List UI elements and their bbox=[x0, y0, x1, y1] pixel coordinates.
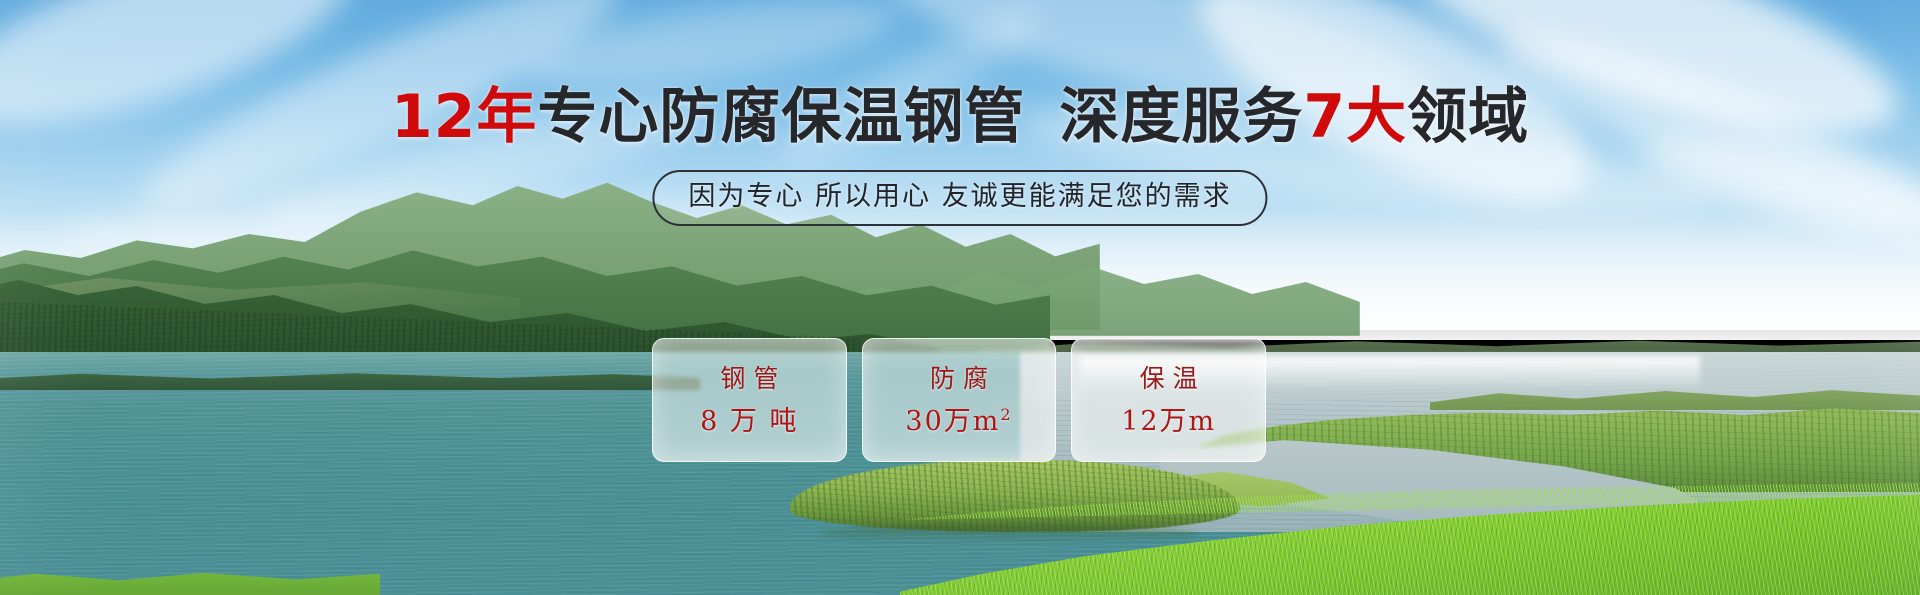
headline-seven: 7大 bbox=[1303, 82, 1407, 152]
stat-card-title: 防腐 bbox=[922, 364, 996, 394]
hero-banner: 12年专心防腐保温钢管深度服务7大领域 因为专心 所以用心 友诚更能满足您的需求… bbox=[0, 0, 1920, 595]
stat-card-value: 30万m2 bbox=[905, 407, 1012, 437]
stat-card-title: 保温 bbox=[1132, 364, 1206, 394]
stat-card-title: 钢管 bbox=[712, 364, 786, 394]
subtitle-pill: 因为专心 所以用心 友诚更能满足您的需求 bbox=[652, 170, 1267, 226]
headline-years: 12年 bbox=[391, 82, 538, 152]
stat-card-steel-pipe[interactable]: 钢管 8 万 吨 bbox=[652, 338, 847, 462]
stat-card-insulation[interactable]: 保温 12万m bbox=[1071, 338, 1266, 462]
stat-card-anticorrosion[interactable]: 防腐 30万m2 bbox=[862, 338, 1057, 462]
stat-card-value: 12万m bbox=[1121, 407, 1216, 437]
stat-card-value-text: 30万m bbox=[905, 406, 1000, 437]
stat-card-value-text: 8 万 吨 bbox=[700, 406, 798, 437]
headline-main: 专心防腐保温钢管 bbox=[537, 82, 1025, 152]
headline-fields: 领域 bbox=[1407, 82, 1529, 152]
stat-card-value-text: 12万m bbox=[1121, 406, 1216, 437]
banner-headline: 12年专心防腐保温钢管深度服务7大领域 bbox=[0, 86, 1920, 148]
headline-service: 深度服务 bbox=[1059, 82, 1303, 152]
stat-card-group: 钢管 8 万 吨 防腐 30万m2 保温 12万m bbox=[652, 338, 1266, 462]
stat-card-value: 8 万 吨 bbox=[700, 407, 798, 437]
stat-card-value-superscript: 2 bbox=[1000, 405, 1012, 424]
island-reflection bbox=[820, 524, 1200, 544]
